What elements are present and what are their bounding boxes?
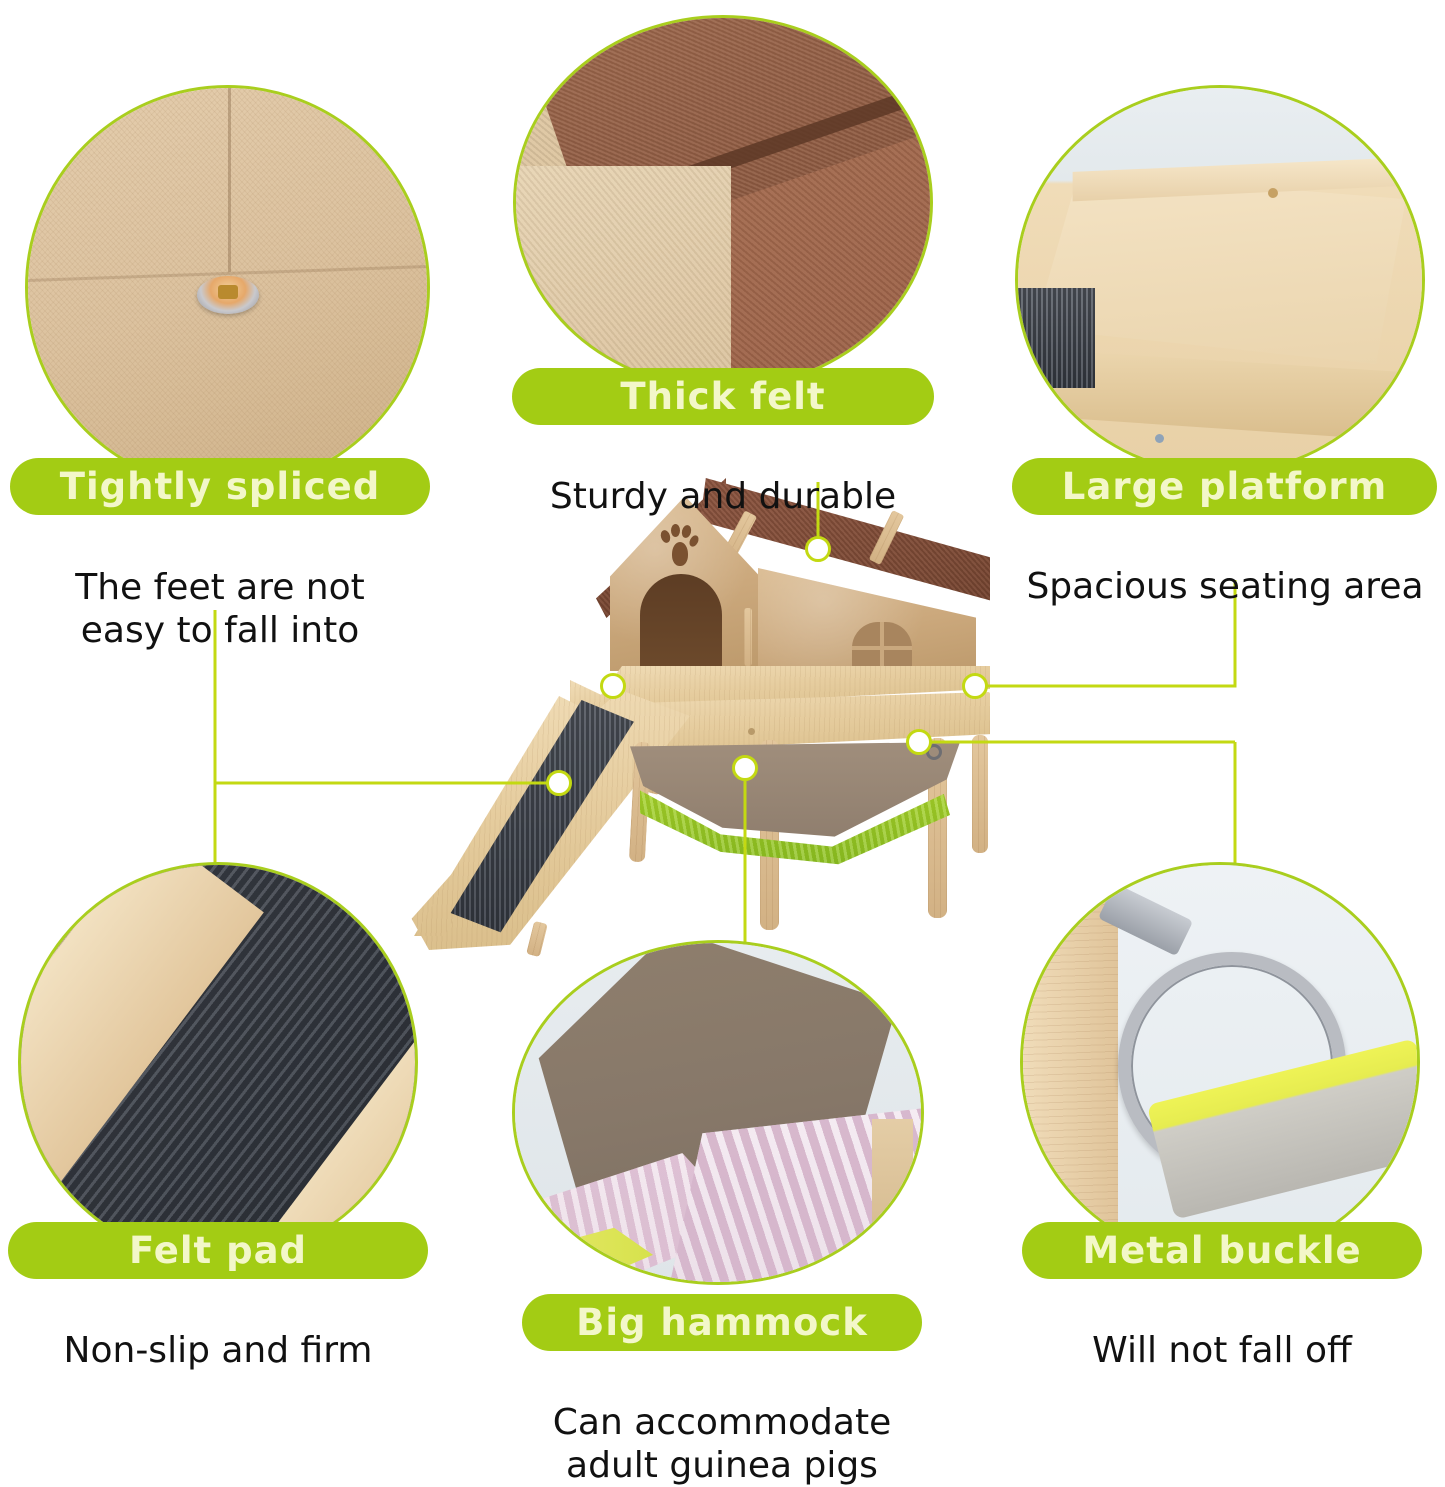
badge-felt-pad: Felt pad xyxy=(8,1222,428,1279)
paw-print-cutout xyxy=(658,522,700,574)
caption-text: Can accommodate adult guinea pigs xyxy=(553,1402,891,1485)
caption-felt-pad: Non-slip and firm xyxy=(8,1288,428,1373)
photo-tightly-spliced-image xyxy=(28,88,427,487)
badge-big-hammock: Big hammock xyxy=(522,1294,922,1351)
photo-large-platform xyxy=(1015,85,1425,475)
caption-big-hammock: Can accommodate adult guinea pigs xyxy=(512,1360,932,1487)
badge-tightly-spliced: Tightly spliced xyxy=(10,458,430,515)
caption-text: Spacious seating area xyxy=(1026,566,1423,607)
photo-felt-pad-image xyxy=(21,865,415,1259)
badge-label: Felt pad xyxy=(129,1229,307,1272)
photo-metal-buckle xyxy=(1020,862,1420,1262)
hammock xyxy=(630,742,960,872)
hotspot-tightly-spliced[interactable] xyxy=(546,770,572,796)
photo-felt-pad xyxy=(18,862,418,1262)
badge-label: Big hammock xyxy=(576,1301,868,1344)
infographic-stage: Tightly spliced The feet are not easy to… xyxy=(0,0,1445,1456)
badge-thick-felt: Thick felt xyxy=(512,368,934,425)
hotspot-thick-felt[interactable] xyxy=(805,536,831,562)
photo-thick-felt-image xyxy=(516,18,930,387)
caption-metal-buckle: Will not fall off xyxy=(1012,1288,1432,1373)
hotspot-platform-left[interactable] xyxy=(600,673,626,699)
badge-label: Tightly spliced xyxy=(60,465,381,508)
caption-large-platform: Spacious seating area xyxy=(1010,524,1440,609)
badge-label: Large platform xyxy=(1062,465,1387,508)
hotspot-metal-buckle[interactable] xyxy=(906,729,932,755)
hotspot-large-platform[interactable] xyxy=(962,673,988,699)
photo-metal-buckle-image xyxy=(1023,865,1417,1259)
arched-doorway xyxy=(640,574,722,674)
caption-thick-felt: Sturdy and durable xyxy=(512,434,934,519)
caption-tightly-spliced: The feet are not easy to fall into xyxy=(20,525,420,652)
photo-large-platform-image xyxy=(1018,88,1422,472)
photo-thick-felt xyxy=(513,15,933,390)
leg-back-right xyxy=(972,735,988,853)
screw-head xyxy=(197,276,259,314)
badge-large-platform: Large platform xyxy=(1012,458,1437,515)
hammock-taupe-body xyxy=(630,742,960,852)
caption-text: The feet are not easy to fall into xyxy=(75,567,365,650)
caption-text: Sturdy and durable xyxy=(550,476,896,517)
wooden-post xyxy=(1023,865,1118,1259)
platform-rail-screw xyxy=(748,728,755,735)
photo-tightly-spliced xyxy=(25,85,430,490)
photo-big-hammock xyxy=(512,940,924,1285)
hotspot-big-hammock[interactable] xyxy=(732,755,758,781)
caption-text: Non-slip and firm xyxy=(64,1330,373,1371)
badge-label: Metal buckle xyxy=(1082,1229,1361,1272)
badge-metal-buckle: Metal buckle xyxy=(1022,1222,1422,1279)
badge-label: Thick felt xyxy=(620,375,825,418)
photo-big-hammock-image xyxy=(515,943,921,1282)
wall-dowel xyxy=(744,608,752,666)
caption-text: Will not fall off xyxy=(1092,1330,1352,1371)
product-photo xyxy=(400,470,1020,970)
